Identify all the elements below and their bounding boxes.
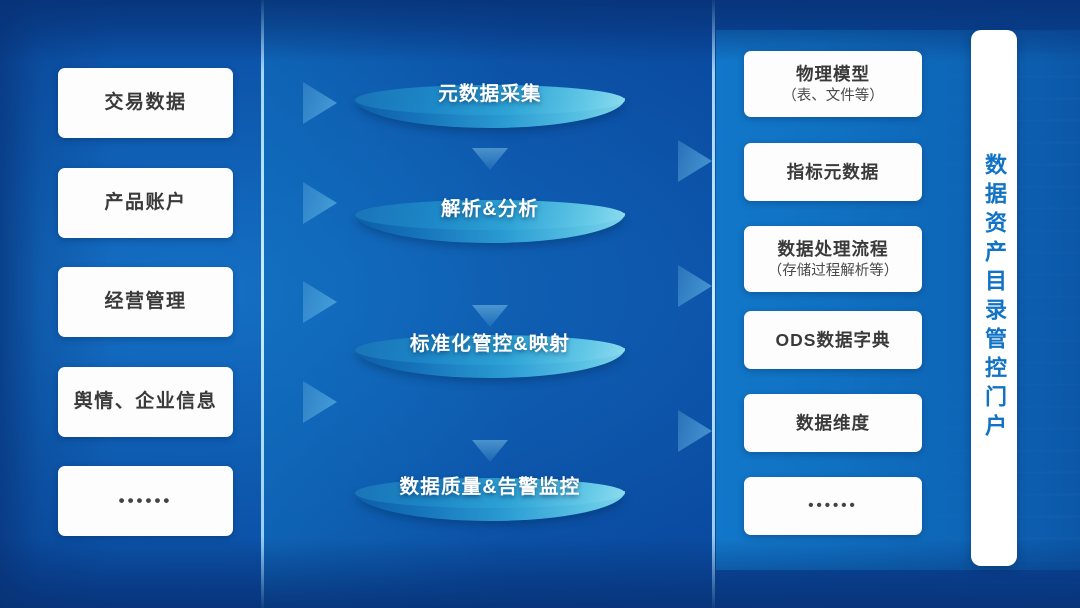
vertical-title-panel: 数据资产目录管控门户 (971, 30, 1017, 566)
pipeline-stage-label: 数据质量&告警监控 (355, 470, 625, 499)
diagram-canvas: 交易数据 产品账户 经营管理 舆情、企业信息 •••••• 元数据采集 解析&分… (0, 0, 1080, 608)
ellipsis-label: •••••• (808, 496, 858, 515)
card-title: ODS数据字典 (776, 329, 891, 351)
list-item[interactable]: 指标元数据 (744, 143, 922, 201)
card-title: 物理模型 (796, 63, 870, 85)
list-item[interactable]: ODS数据字典 (744, 311, 922, 369)
pipeline-stage-label: 解析&分析 (355, 192, 625, 221)
card-subtitle: （表、文件等） (782, 87, 884, 106)
list-item[interactable]: 数据维度 (744, 394, 922, 452)
list-item-ellipsis[interactable]: •••••• (744, 477, 922, 535)
list-item[interactable]: 产品账户 (58, 168, 233, 238)
ellipsis-label: •••••• (119, 490, 173, 512)
list-item[interactable]: 舆情、企业信息 (58, 367, 233, 437)
list-item[interactable]: 经营管理 (58, 267, 233, 337)
card-title: 指标元数据 (787, 161, 880, 183)
list-item-ellipsis[interactable]: •••••• (58, 466, 233, 536)
card-title: 产品账户 (104, 191, 186, 215)
divider-line-right (712, 0, 715, 608)
card-title: 数据维度 (796, 412, 870, 434)
list-item[interactable]: 交易数据 (58, 68, 233, 138)
list-item[interactable]: 数据处理流程 （存储过程解析等） (744, 226, 922, 292)
card-title: 数据处理流程 (778, 238, 889, 260)
card-title: 经营管理 (104, 290, 186, 314)
page-title: 数据资产目录管控门户 (983, 153, 1005, 443)
card-title: 交易数据 (104, 91, 186, 115)
pipeline-stage-label: 元数据采集 (355, 77, 625, 106)
card-title: 舆情、企业信息 (74, 390, 218, 414)
pipeline-stage-label: 标准化管控&映射 (355, 327, 625, 356)
list-item[interactable]: 物理模型 （表、文件等） (744, 51, 922, 117)
card-subtitle: （存储过程解析等） (768, 262, 899, 281)
divider-line-left (261, 0, 264, 608)
